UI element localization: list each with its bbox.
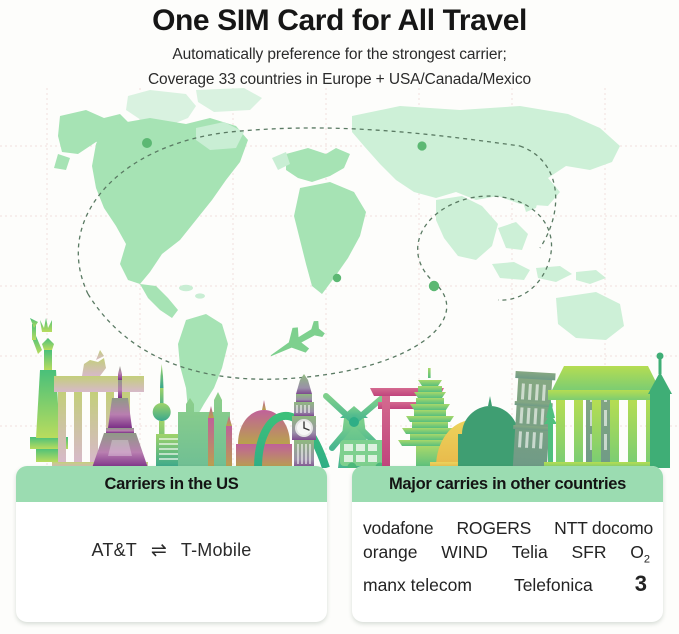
carrier-o2-base: O [630, 542, 644, 562]
page-subtitle-line1: Automatically preference for the stronge… [0, 40, 679, 65]
us-carriers-panel-header: Carriers in the US [16, 466, 327, 502]
other-carriers-list: vodafone ROGERS NTT docomo orange WIND T… [352, 502, 663, 597]
dome-building-icon [458, 396, 522, 468]
carrier-o2: O2 [630, 540, 650, 572]
us-carriers-panel-body: AT&T ⇌ T-Mobile [16, 502, 327, 622]
carrier-telefonica: Telefonica [514, 573, 593, 597]
world-map-illustration [0, 88, 679, 468]
other-carriers-panel-title: Major carries in other countries [389, 475, 626, 494]
airplane-icon [264, 316, 328, 368]
other-carriers-panel-header: Major carries in other countries [352, 466, 663, 502]
us-carriers-row: AT&T ⇌ T-Mobile [16, 539, 327, 562]
carrier-vodafone: vodafone [363, 516, 433, 540]
carrier-o2-subscript: 2 [644, 554, 650, 566]
carrier-manx-telecom: manx telecom [363, 573, 472, 597]
carrier-rogers: ROGERS [456, 516, 531, 540]
minaret-icon [648, 353, 672, 469]
carrier-orange: orange [363, 540, 418, 564]
page-title: One SIM Card for All Travel [0, 0, 679, 40]
page-header: One SIM Card for All Travel Automaticall… [0, 0, 679, 92]
carrier-sfr: SFR [571, 540, 606, 564]
carrier-ntt-docomo: NTT docomo [554, 516, 653, 540]
big-ben-icon [292, 374, 316, 468]
carrier-tmobile: T-Mobile [181, 540, 252, 560]
carrier-row-1: vodafone ROGERS NTT docomo [363, 516, 653, 540]
other-carriers-panel-body: vodafone ROGERS NTT docomo orange WIND T… [352, 502, 663, 622]
us-carriers-panel: Carriers in the US AT&T ⇌ T-Mobile [16, 466, 327, 622]
carrier-three: 3 [635, 572, 647, 596]
carrier-wind: WIND [441, 540, 488, 564]
other-carriers-panel: Major carries in other countries vodafon… [352, 466, 663, 622]
carrier-telia: Telia [512, 540, 548, 564]
carrier-row-3: manx telecom Telefonica 3 [363, 572, 653, 597]
city-skyline [30, 318, 672, 468]
equilibrium-arrow-icon: ⇌ [142, 539, 176, 562]
page-subtitle-line2: Coverage 33 countries in Europe + USA/Ca… [0, 65, 679, 90]
carrier-row-2: orange WIND Telia SFR O2 [363, 540, 653, 572]
us-carriers-panel-title: Carriers in the US [105, 475, 239, 494]
carrier-panels: Carriers in the US AT&T ⇌ T-Mobile Major… [0, 466, 679, 634]
carrier-att: AT&T [92, 540, 137, 560]
